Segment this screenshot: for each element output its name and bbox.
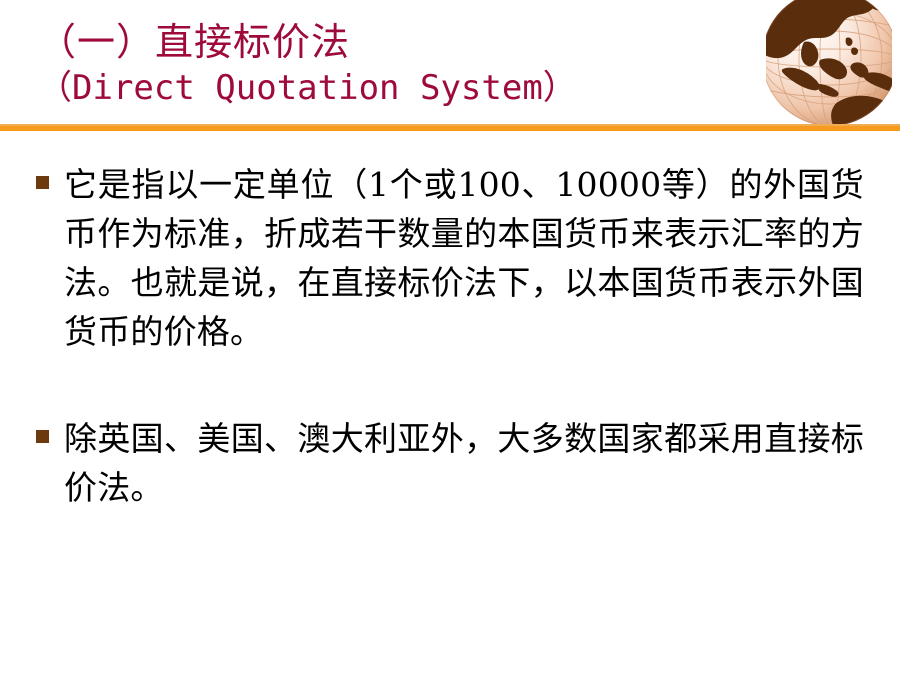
globe-graphic: [766, 0, 892, 128]
square-bullet-icon: [36, 430, 49, 443]
slide: （一）直接标价法 （Direct Quotation System）: [0, 0, 900, 675]
page-title: （一）直接标价法 （Direct Quotation System）: [38, 18, 758, 110]
square-bullet-icon: [36, 176, 49, 189]
globe-icon: [766, 0, 892, 128]
bullet-text: 除英国、美国、澳大利亚外，大多数国家都采用直接标价法。: [64, 414, 864, 512]
list-item: 除英国、美国、澳大利亚外，大多数国家都采用直接标价法。: [36, 414, 864, 512]
title-chinese: （一）直接标价法: [38, 18, 758, 66]
bullet-text: 它是指以一定单位（1个或100、10000等）的外国货币作为标准，折成若干数量的…: [64, 160, 864, 356]
slide-header: （一）直接标价法 （Direct Quotation System）: [0, 0, 900, 128]
list-item: 它是指以一定单位（1个或100、10000等）的外国货币作为标准，折成若干数量的…: [36, 160, 864, 356]
slide-body: 它是指以一定单位（1个或100、10000等）的外国货币作为标准，折成若干数量的…: [36, 160, 864, 512]
title-english: （Direct Quotation System）: [38, 66, 758, 110]
header-divider: [0, 126, 900, 131]
